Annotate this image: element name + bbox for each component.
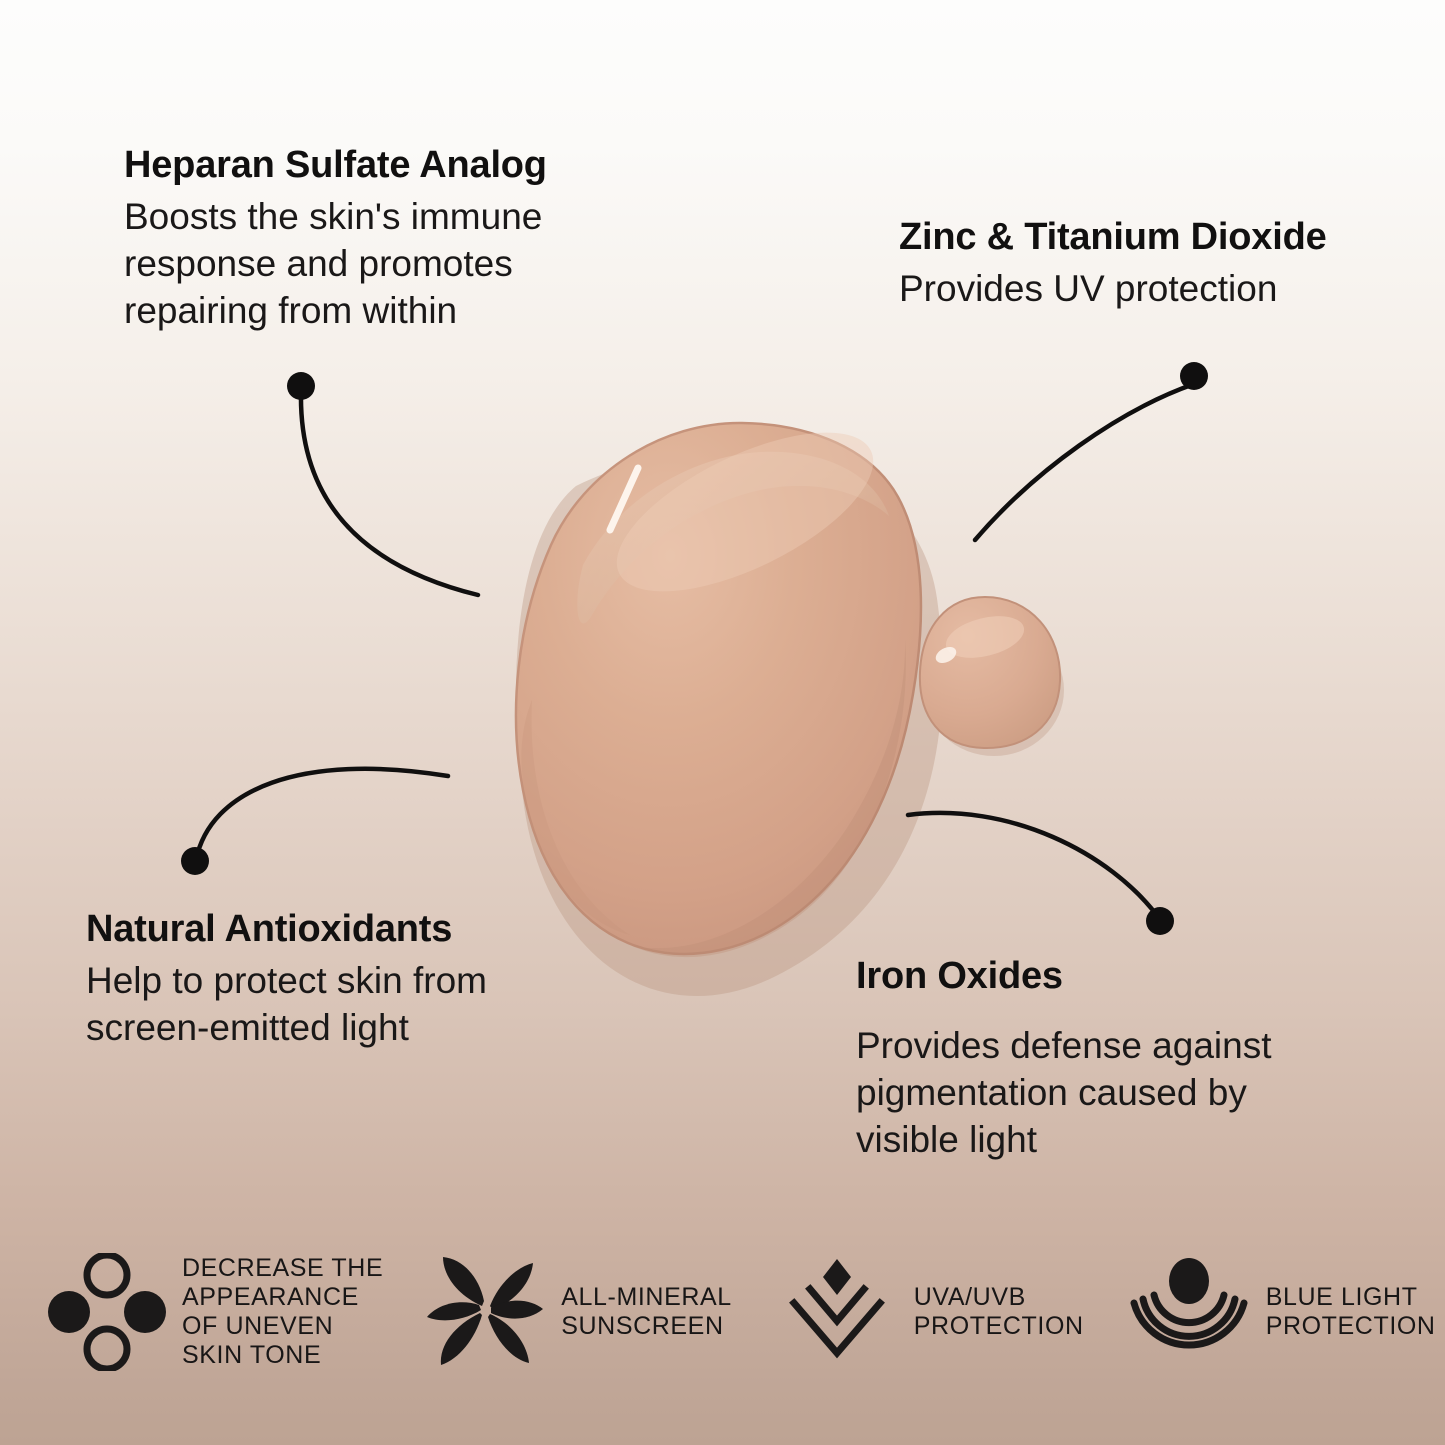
benefit-label-line: UVA/UVB — [914, 1283, 1084, 1312]
connector-dot-zinc — [1180, 362, 1208, 390]
callout-title: Natural Antioxidants — [86, 908, 487, 951]
callout-heparan-sulfate-analog: Heparan Sulfate Analog Boosts the skin's… — [124, 144, 547, 335]
nested-chevrons-icon — [776, 1251, 898, 1373]
callout-title: Iron Oxides — [856, 955, 1272, 998]
benefit-even-skin-tone: Decrease the Appearance of Uneven Skin T… — [48, 1253, 383, 1371]
callout-zinc-titanium-dioxide: Zinc & Titanium Dioxide Provides UV prot… — [899, 216, 1327, 312]
benefit-blue-light-protection: Blue Light Protection — [1128, 1251, 1436, 1373]
connector-line-antioxidants — [196, 769, 448, 860]
benefit-label: All-Mineral Sunscreen — [561, 1283, 732, 1341]
benefit-label-line: All-Mineral — [561, 1283, 732, 1312]
concentric-arcs-icon — [1128, 1251, 1250, 1373]
four-circles-diamond-icon — [48, 1253, 166, 1371]
connector-line-heparan — [301, 392, 478, 595]
benefit-label-line: Protection — [1266, 1312, 1436, 1341]
benefit-label-line: of Uneven — [182, 1312, 383, 1341]
callout-body-line: Help to protect skin from — [86, 957, 487, 1004]
callout-body-line: visible light — [856, 1116, 1272, 1163]
benefit-label-line: Appearance — [182, 1283, 383, 1312]
benefit-label: Decrease the Appearance of Uneven Skin T… — [182, 1254, 383, 1370]
callout-body-line: response and promotes — [124, 240, 547, 287]
benefit-label-line: Sunscreen — [561, 1312, 732, 1341]
callout-body-line: pigmentation caused by — [856, 1069, 1272, 1116]
callout-title: Heparan Sulfate Analog — [124, 144, 547, 187]
callout-body-line: Boosts the skin's immune — [124, 193, 547, 240]
benefit-label: UVA/UVB Protection — [914, 1283, 1084, 1341]
flower-petals-icon — [427, 1251, 545, 1373]
callout-body: Provides defense against pigmentation ca… — [856, 1022, 1272, 1164]
connector-dot-iron — [1146, 907, 1174, 935]
callout-body-line: screen-emitted light — [86, 1004, 487, 1051]
benefit-icon-strip: Decrease the Appearance of Uneven Skin T… — [0, 1222, 1445, 1402]
connector-line-zinc — [975, 384, 1194, 540]
benefit-label: Blue Light Protection — [1266, 1283, 1436, 1341]
callout-body: Help to protect skin from screen-emitted… — [86, 957, 487, 1052]
benefit-label-line: Protection — [914, 1312, 1084, 1341]
benefit-uva-uvb-protection: UVA/UVB Protection — [776, 1251, 1084, 1373]
infographic-canvas: Heparan Sulfate Analog Boosts the skin's… — [0, 0, 1445, 1445]
connector-line-iron — [908, 813, 1159, 918]
benefit-label-line: Blue Light — [1266, 1283, 1436, 1312]
callout-body: Provides UV protection — [899, 265, 1327, 312]
benefit-label-line: Decrease the — [182, 1254, 383, 1283]
callout-body-line: Provides UV protection — [899, 265, 1327, 312]
callout-title: Zinc & Titanium Dioxide — [899, 216, 1327, 259]
callout-body-line: repairing from within — [124, 287, 547, 334]
connector-dot-antioxidants — [181, 847, 209, 875]
callout-body: Boosts the skin's immune response and pr… — [124, 193, 547, 335]
benefit-label-line: Skin Tone — [182, 1341, 383, 1370]
connector-dot-heparan — [287, 372, 315, 400]
callout-iron-oxides: Iron Oxides Provides defense against pig… — [856, 955, 1272, 1164]
callout-natural-antioxidants: Natural Antioxidants Help to protect ski… — [86, 908, 487, 1051]
benefit-all-mineral-sunscreen: All-Mineral Sunscreen — [427, 1251, 732, 1373]
callout-body-line: Provides defense against — [856, 1022, 1272, 1069]
